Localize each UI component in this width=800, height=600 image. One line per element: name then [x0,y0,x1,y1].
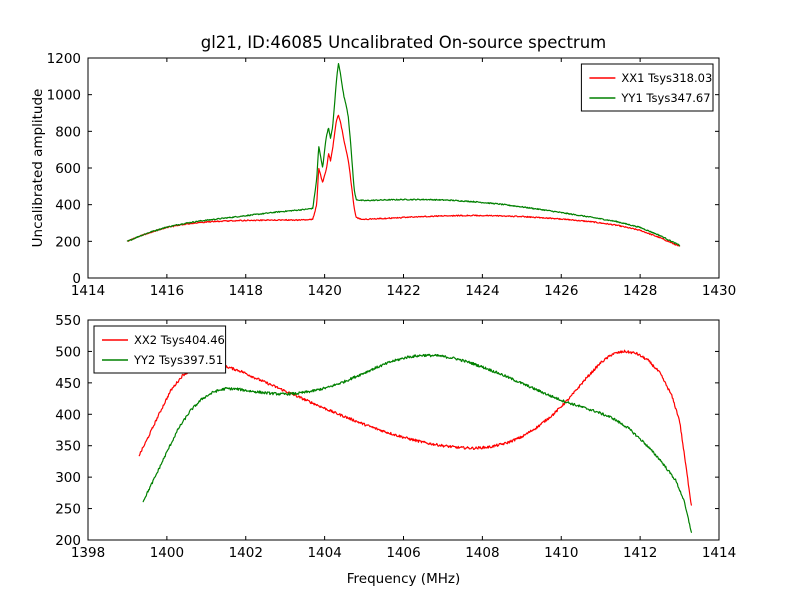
yticklabel-bottom-spectrum-7: 550 [55,313,81,329]
spectrum-figure-canvas: 1414141614181420142214241426142814300200… [0,0,800,600]
xticklabel-bottom-spectrum-3: 1404 [307,545,341,561]
yticklabel-bottom-spectrum-5: 450 [55,376,81,392]
legend-bottom-spectrum[interactable]: XX2 Tsys404.46YY2 Tsys397.51 [94,326,226,373]
yticklabel-top-spectrum-6: 1200 [47,51,81,67]
xticklabel-top-spectrum-8: 1430 [702,283,736,299]
yticklabel-top-spectrum-4: 800 [55,124,81,140]
legend-label-bottom-spectrum-1: YY2 Tsys397.51 [133,353,223,367]
xticklabel-bottom-spectrum-8: 1414 [702,545,736,561]
xticklabel-top-spectrum-3: 1420 [307,283,341,299]
xticklabel-bottom-spectrum-4: 1406 [386,545,420,561]
xticklabel-top-spectrum-5: 1424 [465,283,499,299]
chart-title-top-spectrum: gl21, ID:46085 Uncalibrated On-source sp… [201,33,607,52]
legend-label-top-spectrum-0: XX1 Tsys318.03 [621,71,712,85]
yticklabel-top-spectrum-3: 600 [55,161,81,177]
xticklabel-top-spectrum-2: 1418 [229,283,263,299]
yticklabel-bottom-spectrum-1: 250 [55,502,81,518]
xticklabel-top-spectrum-4: 1422 [386,283,420,299]
yticklabel-top-spectrum-1: 200 [55,234,81,250]
chart-top-spectrum: 1414141614181420142214241426142814300200… [30,33,736,299]
yticklabel-bottom-spectrum-4: 400 [55,407,81,423]
xaxis-label-bottom-spectrum: Frequency (MHz) [347,571,460,587]
yticklabel-top-spectrum-5: 1000 [47,88,81,104]
yticklabel-bottom-spectrum-6: 500 [55,344,81,360]
xticklabel-bottom-spectrum-7: 1412 [623,545,657,561]
xticklabel-top-spectrum-7: 1428 [623,283,657,299]
yticklabel-bottom-spectrum-3: 350 [55,439,81,455]
yticklabel-bottom-spectrum-2: 300 [55,470,81,486]
yaxis-label-top-spectrum: Uncalibrated amplitude [30,89,46,248]
yticklabel-top-spectrum-2: 400 [55,198,81,214]
yticklabel-bottom-spectrum-0: 200 [55,533,81,549]
legend-label-top-spectrum-1: YY1 Tsys347.67 [620,91,710,105]
xticklabel-bottom-spectrum-1: 1400 [150,545,184,561]
chart-bottom-spectrum: 1398140014021404140614081410141214142002… [55,313,736,587]
xticklabel-bottom-spectrum-5: 1408 [465,545,499,561]
xticklabel-top-spectrum-1: 1416 [150,283,184,299]
matplotlib-figure: 1414141614181420142214241426142814300200… [0,0,800,600]
xticklabel-bottom-spectrum-6: 1410 [544,545,578,561]
legend-top-spectrum[interactable]: XX1 Tsys318.03YY1 Tsys347.67 [581,64,713,111]
yticklabel-top-spectrum-0: 0 [72,271,81,287]
xticklabel-bottom-spectrum-2: 1402 [229,545,263,561]
legend-label-bottom-spectrum-0: XX2 Tsys404.46 [134,333,225,347]
xticklabel-top-spectrum-6: 1426 [544,283,578,299]
